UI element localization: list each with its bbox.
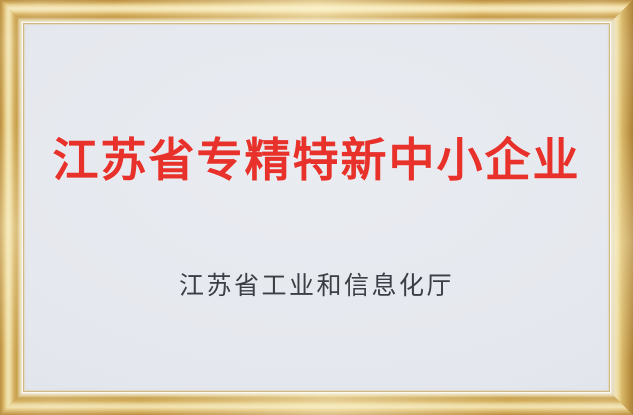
- plaque-title: 江苏省专精特新中小企业: [24, 136, 609, 186]
- award-plaque: 江苏省专精特新中小企业 江苏省工业和信息化厅: [0, 0, 633, 415]
- frame-edge-left: [0, 0, 23, 415]
- frame-edge-right: [610, 0, 633, 415]
- plaque-panel: 江苏省专精特新中小企业 江苏省工业和信息化厅: [24, 24, 609, 391]
- plaque-issuing-authority: 江苏省工业和信息化厅: [24, 271, 609, 301]
- frame-edge-top: [0, 0, 633, 23]
- frame-edge-bottom: [0, 392, 633, 415]
